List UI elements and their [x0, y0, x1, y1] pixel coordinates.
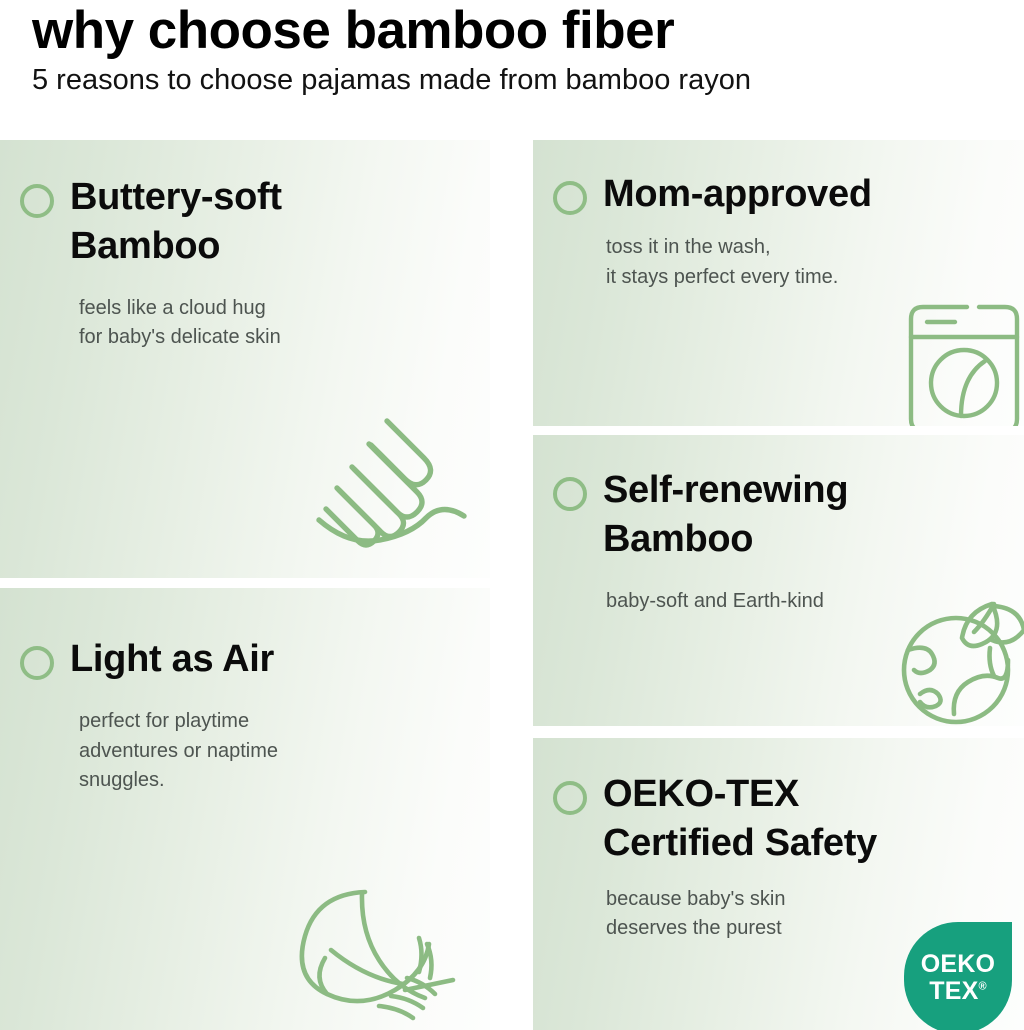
card-oeko-tex-certified-safety: OEKO-TEX Certified Safety because baby's…: [533, 738, 1024, 1030]
card-content: Mom-approved toss it in the wash, it sta…: [533, 140, 1024, 292]
grid-column-right: Mom-approved toss it in the wash, it sta…: [533, 140, 1024, 1030]
card-title-row: Self-renewing Bamboo: [553, 466, 1024, 565]
circle-bullet-icon: [553, 477, 587, 511]
card-title: Buttery-soft Bamboo: [70, 173, 282, 272]
card-content: Buttery-soft Bamboo feels like a cloud h…: [0, 140, 490, 353]
card-description: toss it in the wash, it stays perfect ev…: [606, 233, 1024, 292]
circle-bullet-icon: [20, 646, 54, 680]
card-content: Light as Air perfect for playtime advent…: [0, 588, 490, 796]
badge-line-1: OEKO: [921, 951, 995, 978]
circle-bullet-icon: [20, 184, 54, 218]
card-title: Mom-approved: [603, 170, 872, 219]
card-gap: [0, 578, 490, 588]
grid-column-left: Buttery-soft Bamboo feels like a cloud h…: [0, 140, 490, 1030]
washing-machine-icon: [901, 301, 1024, 426]
card-light-as-air: Light as Air perfect for playtime advent…: [0, 588, 490, 1030]
page-title: why choose bamboo fiber: [32, 2, 1024, 59]
card-content: OEKO-TEX Certified Safety because baby's…: [533, 738, 1024, 944]
card-title: Self-renewing Bamboo: [603, 466, 848, 565]
oeko-tex-badge: OEKO TEX®: [904, 922, 1012, 1030]
card-mom-approved: Mom-approved toss it in the wash, it sta…: [533, 140, 1024, 426]
card-title: OEKO-TEX Certified Safety: [603, 770, 877, 869]
circle-bullet-icon: [553, 781, 587, 815]
registered-mark: ®: [978, 981, 986, 993]
card-description: feels like a cloud hug for baby's delica…: [79, 294, 490, 353]
hand-touching-fabric-icon: [314, 416, 484, 571]
page-subtitle: 5 reasons to choose pajamas made from ba…: [32, 63, 1024, 98]
card-buttery-soft-bamboo: Buttery-soft Bamboo feels like a cloud h…: [0, 140, 490, 578]
page-header: why choose bamboo fiber 5 reasons to cho…: [0, 0, 1024, 98]
card-gap: [533, 726, 1024, 738]
card-title: Light as Air: [70, 635, 274, 684]
card-gap: [533, 426, 1024, 435]
card-content: Self-renewing Bamboo baby-soft and Earth…: [533, 435, 1024, 616]
benefits-grid: Buttery-soft Bamboo feels like a cloud h…: [0, 140, 1024, 1030]
card-title-row: OEKO-TEX Certified Safety: [553, 770, 1024, 869]
feather-icon: [287, 878, 487, 1030]
card-description: perfect for playtime adventures or napti…: [79, 707, 490, 795]
card-self-renewing-bamboo: Self-renewing Bamboo baby-soft and Earth…: [533, 435, 1024, 726]
card-title-row: Mom-approved: [553, 170, 1024, 219]
card-title-row: Light as Air: [20, 635, 490, 684]
circle-bullet-icon: [553, 181, 587, 215]
badge-line-2-text: TEX: [929, 977, 978, 1005]
card-description: baby-soft and Earth-kind: [606, 587, 1024, 616]
badge-line-2: TEX®: [929, 978, 987, 1005]
card-title-row: Buttery-soft Bamboo: [20, 173, 490, 272]
